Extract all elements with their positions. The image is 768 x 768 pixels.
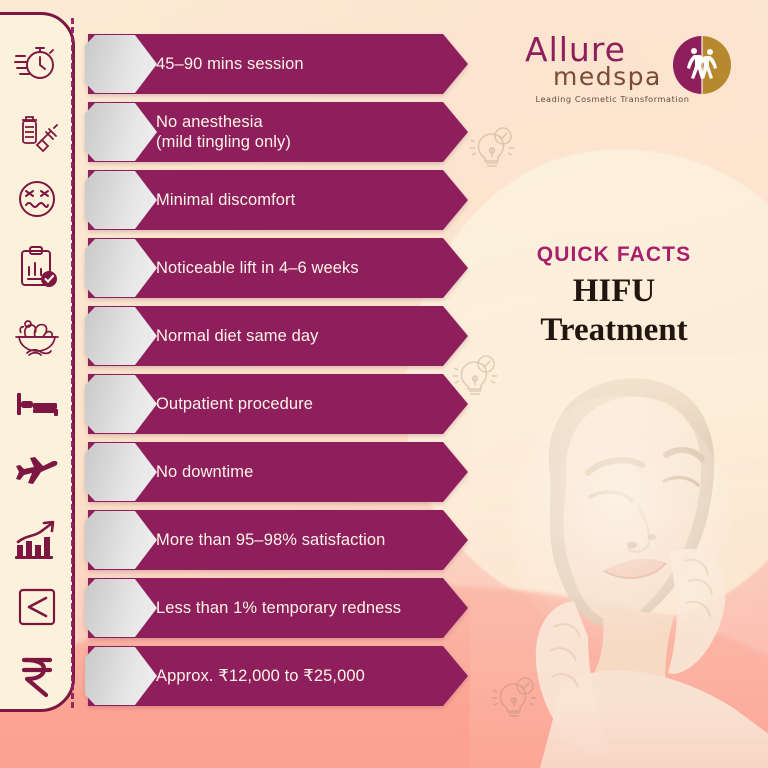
fact-row[interactable]: Less than 1% temporary redness (0, 578, 768, 638)
fact-label: More than 95–98% satisfaction (156, 510, 456, 570)
fact-row[interactable]: More than 95–98% satisfaction (0, 510, 768, 570)
fact-row[interactable]: Minimal discomfort (0, 170, 768, 230)
fact-row[interactable]: No downtime (0, 442, 768, 502)
rupee-icon (8, 644, 66, 706)
fact-label: Approx. ₹12,000 to ₹25,000 (156, 646, 456, 706)
clipboard-check-icon (8, 236, 66, 298)
fact-banner[interactable]: Approx. ₹12,000 to ₹25,000 (88, 646, 468, 706)
syringe-vial-icon (8, 100, 66, 162)
growth-chart-icon (8, 508, 66, 570)
infographic-poster: Allure medspa Leading Cosmetic Transform… (0, 0, 768, 768)
fact-label: Minimal discomfort (156, 170, 456, 230)
fact-label: Normal diet same day (156, 306, 456, 366)
airplane-icon (8, 440, 66, 502)
fact-label: No anesthesia (mild tingling only) (156, 102, 456, 162)
fact-row[interactable]: Noticeable lift in 4–6 weeks (0, 238, 768, 298)
bed-icon (8, 372, 66, 434)
fact-row[interactable]: Outpatient procedure (0, 374, 768, 434)
wincing-face-icon (8, 168, 66, 230)
fact-banner[interactable]: 45–90 mins session (88, 34, 468, 94)
fact-row[interactable]: Approx. ₹12,000 to ₹25,000 (0, 646, 768, 706)
fact-banner[interactable]: Outpatient procedure (88, 374, 468, 434)
fact-banner[interactable]: More than 95–98% satisfaction (88, 510, 468, 570)
fact-row[interactable]: Normal diet same day (0, 306, 768, 366)
fact-banner[interactable]: Minimal discomfort (88, 170, 468, 230)
fact-banner[interactable]: Noticeable lift in 4–6 weeks (88, 238, 468, 298)
stopwatch-icon (8, 32, 66, 94)
fact-banner[interactable]: No downtime (88, 442, 468, 502)
less-than-icon (8, 576, 66, 638)
fact-banner[interactable]: Normal diet same day (88, 306, 468, 366)
facts-list: 45–90 mins session No anesthesia (m (0, 34, 768, 714)
fact-row[interactable]: 45–90 mins session (0, 34, 768, 94)
fact-label: Noticeable lift in 4–6 weeks (156, 238, 456, 298)
fact-banner[interactable]: No anesthesia (mild tingling only) (88, 102, 468, 162)
fact-label: Outpatient procedure (156, 374, 456, 434)
fact-label: 45–90 mins session (156, 34, 456, 94)
salad-bowl-icon (8, 304, 66, 366)
fact-label: No downtime (156, 442, 456, 502)
fact-banner[interactable]: Less than 1% temporary redness (88, 578, 468, 638)
fact-row[interactable]: No anesthesia (mild tingling only) (0, 102, 768, 162)
fact-label: Less than 1% temporary redness (156, 578, 456, 638)
